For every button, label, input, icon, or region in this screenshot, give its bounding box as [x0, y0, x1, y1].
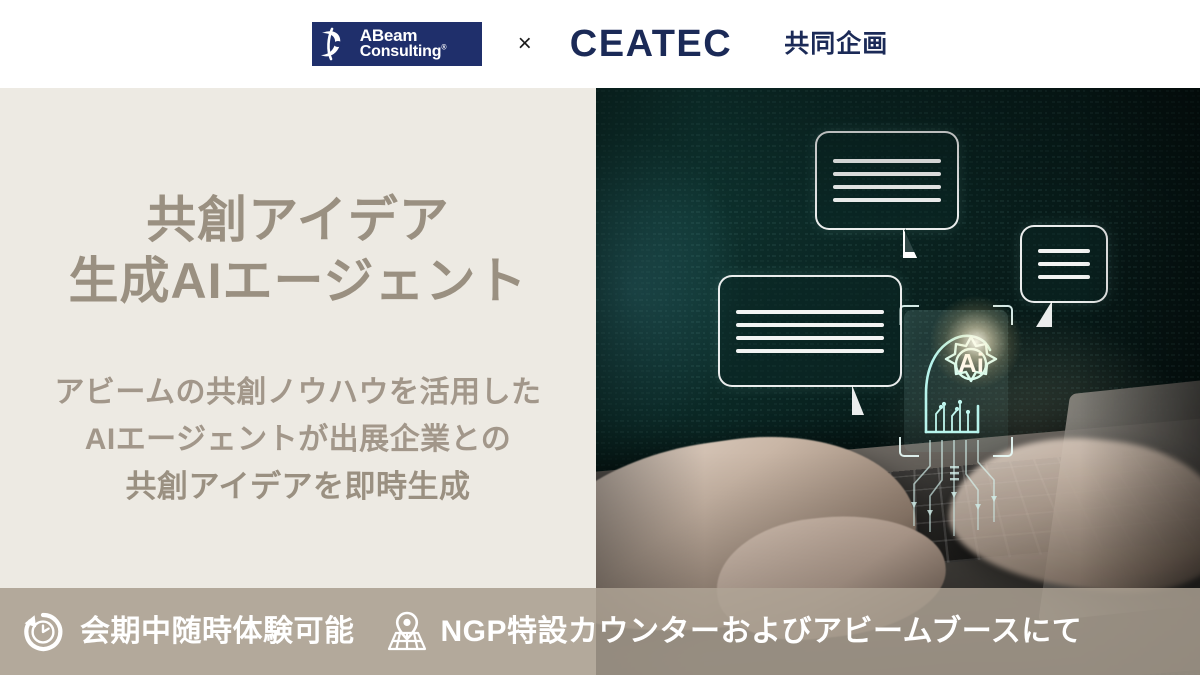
hero-text-panel: 共創アイデア 生成AIエージェント アビームの共創ノウハウを活用した AIエージ…	[0, 88, 596, 675]
registered-trademark-icon: ®	[441, 45, 446, 52]
promo-poster: ABeam Consulting® × CEATEC 共同企画 共創アイデア 生…	[0, 0, 1200, 675]
bottom-info-bar: 会期中随時体験可能	[0, 588, 1200, 675]
abeam-wordmark-ab: AB	[360, 26, 384, 45]
hero-subtitle: アビームの共創ノウハウを活用した AIエージェントが出展企業との 共創アイデアを…	[0, 370, 596, 511]
bottom-bar-item-location: NGP特設カウンターおよびアビームブースにて	[383, 609, 1083, 655]
map-pin-location-icon	[383, 609, 431, 655]
collab-separator-icon: ×	[518, 32, 532, 56]
collab-label: 共同企画	[784, 32, 888, 57]
header-logo-row: ABeam Consulting® × CEATEC 共同企画	[312, 22, 888, 66]
location-label: NGP特設カウンターおよびアビームブースにて	[441, 617, 1083, 647]
subtitle-line-2: AIエージェントが出展企業との	[0, 417, 596, 464]
bottom-bar-item-availability: 会期中随時体験可能	[20, 609, 355, 655]
headline-line-2: 生成AIエージェント	[0, 251, 596, 312]
bottom-bar-content: 会期中随時体験可能	[0, 609, 1200, 655]
clock-history-icon	[20, 609, 66, 655]
subtitle-line-1: アビームの共創ノウハウを活用した	[0, 370, 596, 417]
abeam-wordmark-eam: eam	[384, 26, 417, 45]
availability-label: 会期中随時体験可能	[80, 617, 355, 647]
ceatec-logo: CEATEC	[570, 25, 732, 63]
abeam-consulting-logo: ABeam Consulting®	[312, 22, 482, 66]
abeam-swirl-icon	[312, 22, 358, 66]
abeam-wordmark: ABeam Consulting®	[358, 28, 447, 60]
subtitle-line-3: 共創アイデアを即時生成	[0, 463, 596, 511]
header-logo-bar: ABeam Consulting® × CEATEC 共同企画	[0, 0, 1200, 88]
abeam-wordmark-consulting: Consulting	[360, 43, 442, 60]
hero-photo: Ai	[596, 88, 1200, 675]
page-title: 共創アイデア 生成AIエージェント	[0, 190, 596, 312]
headline-line-1: 共創アイデア	[0, 190, 596, 251]
photo-vignette	[596, 88, 1200, 675]
